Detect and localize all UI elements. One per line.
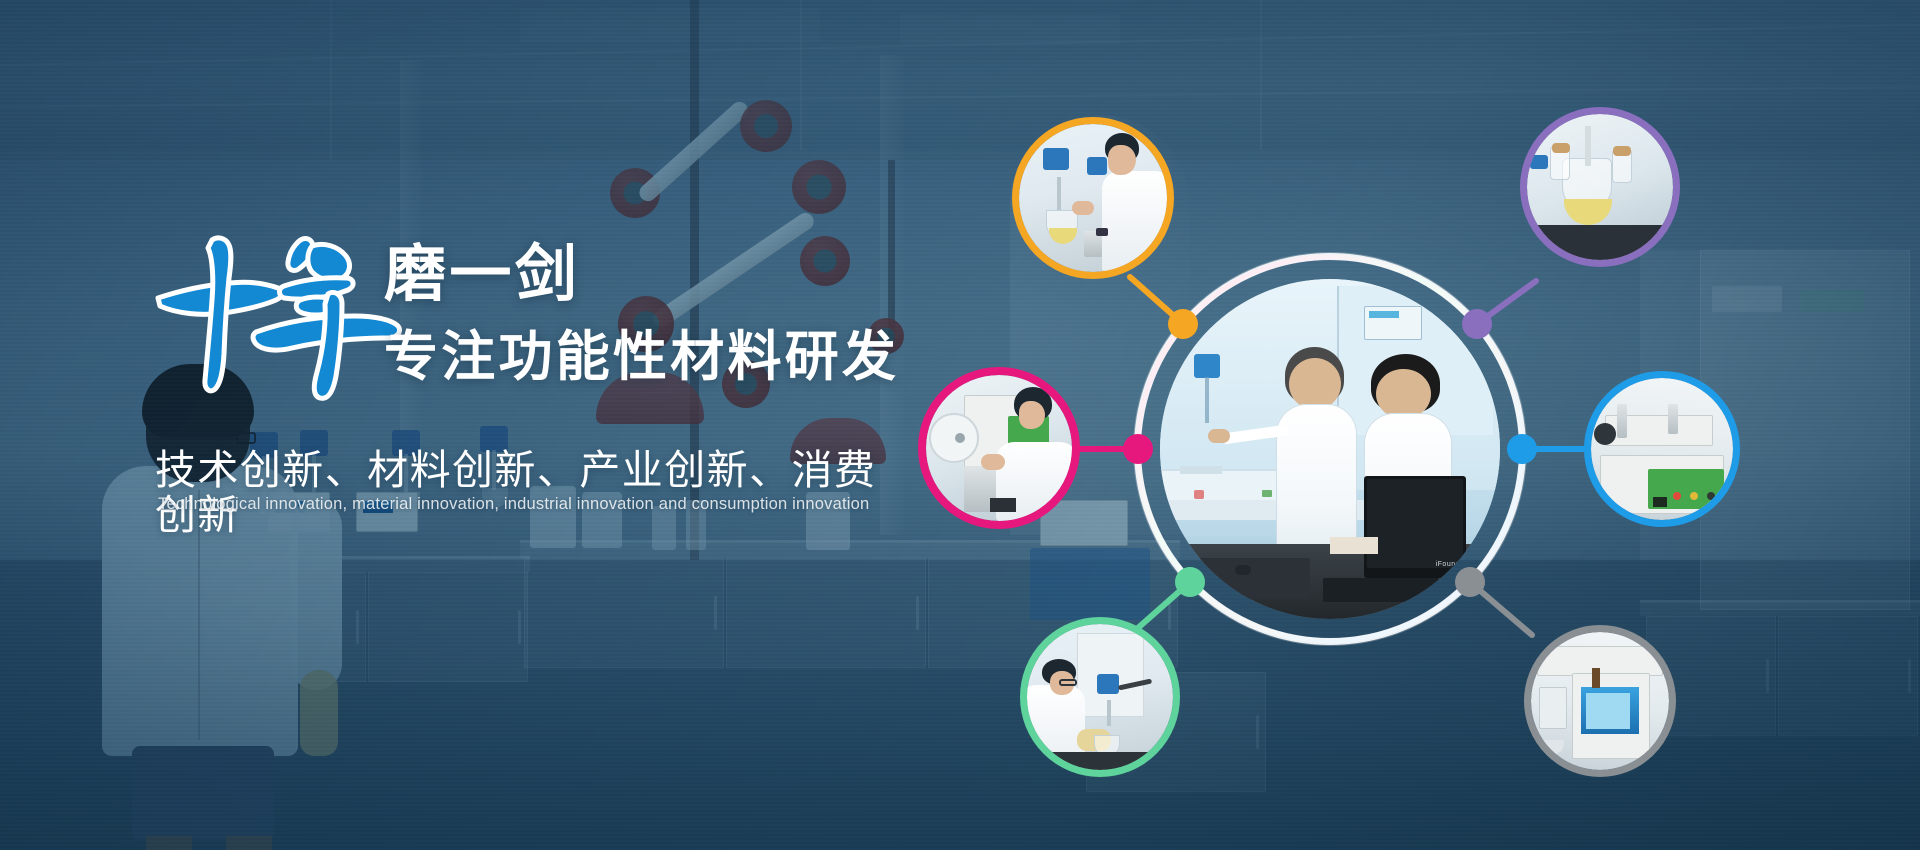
- node-blue[interactable]: [1584, 371, 1740, 527]
- subtitle-chinese: 技术创新、材料创新、产业创新、消费创新: [155, 448, 900, 538]
- calligraphy-shi-nian: [152, 228, 402, 403]
- node-blue-ring: [1584, 371, 1740, 527]
- node-green-dot: [1175, 567, 1205, 597]
- node-green[interactable]: [1020, 617, 1180, 777]
- headline-line-1: 磨一剑: [384, 243, 580, 305]
- node-orange-dot: [1168, 309, 1198, 339]
- headline-block: 磨一剑 专注功能性材料研发 技术创新、材料创新、产业创新、消费创新 Techno…: [0, 0, 900, 850]
- node-purple[interactable]: [1520, 107, 1680, 267]
- node-purple-dot: [1462, 309, 1492, 339]
- headline-line-2: 专注功能性材料研发: [384, 330, 899, 384]
- node-orange[interactable]: [1012, 117, 1174, 279]
- node-pink[interactable]: [918, 367, 1080, 529]
- node-pink-ring: [918, 367, 1080, 529]
- node-purple-ring: [1520, 107, 1680, 267]
- center-photo-node[interactable]: iFound: [1160, 279, 1500, 619]
- node-blue-dot: [1507, 434, 1537, 464]
- node-gray[interactable]: [1524, 625, 1676, 777]
- node-green-ring: [1020, 617, 1180, 777]
- node-gray-ring: [1524, 625, 1676, 777]
- circle-composition: iFound: [980, 95, 1740, 795]
- node-orange-ring: [1012, 117, 1174, 279]
- node-pink-dot: [1123, 434, 1153, 464]
- subtitle-english: Technological innovation, material innov…: [158, 495, 869, 514]
- banner-stage: 磨一剑 专注功能性材料研发 技术创新、材料创新、产业创新、消费创新 Techno…: [0, 0, 1920, 850]
- node-gray-dot: [1455, 567, 1485, 597]
